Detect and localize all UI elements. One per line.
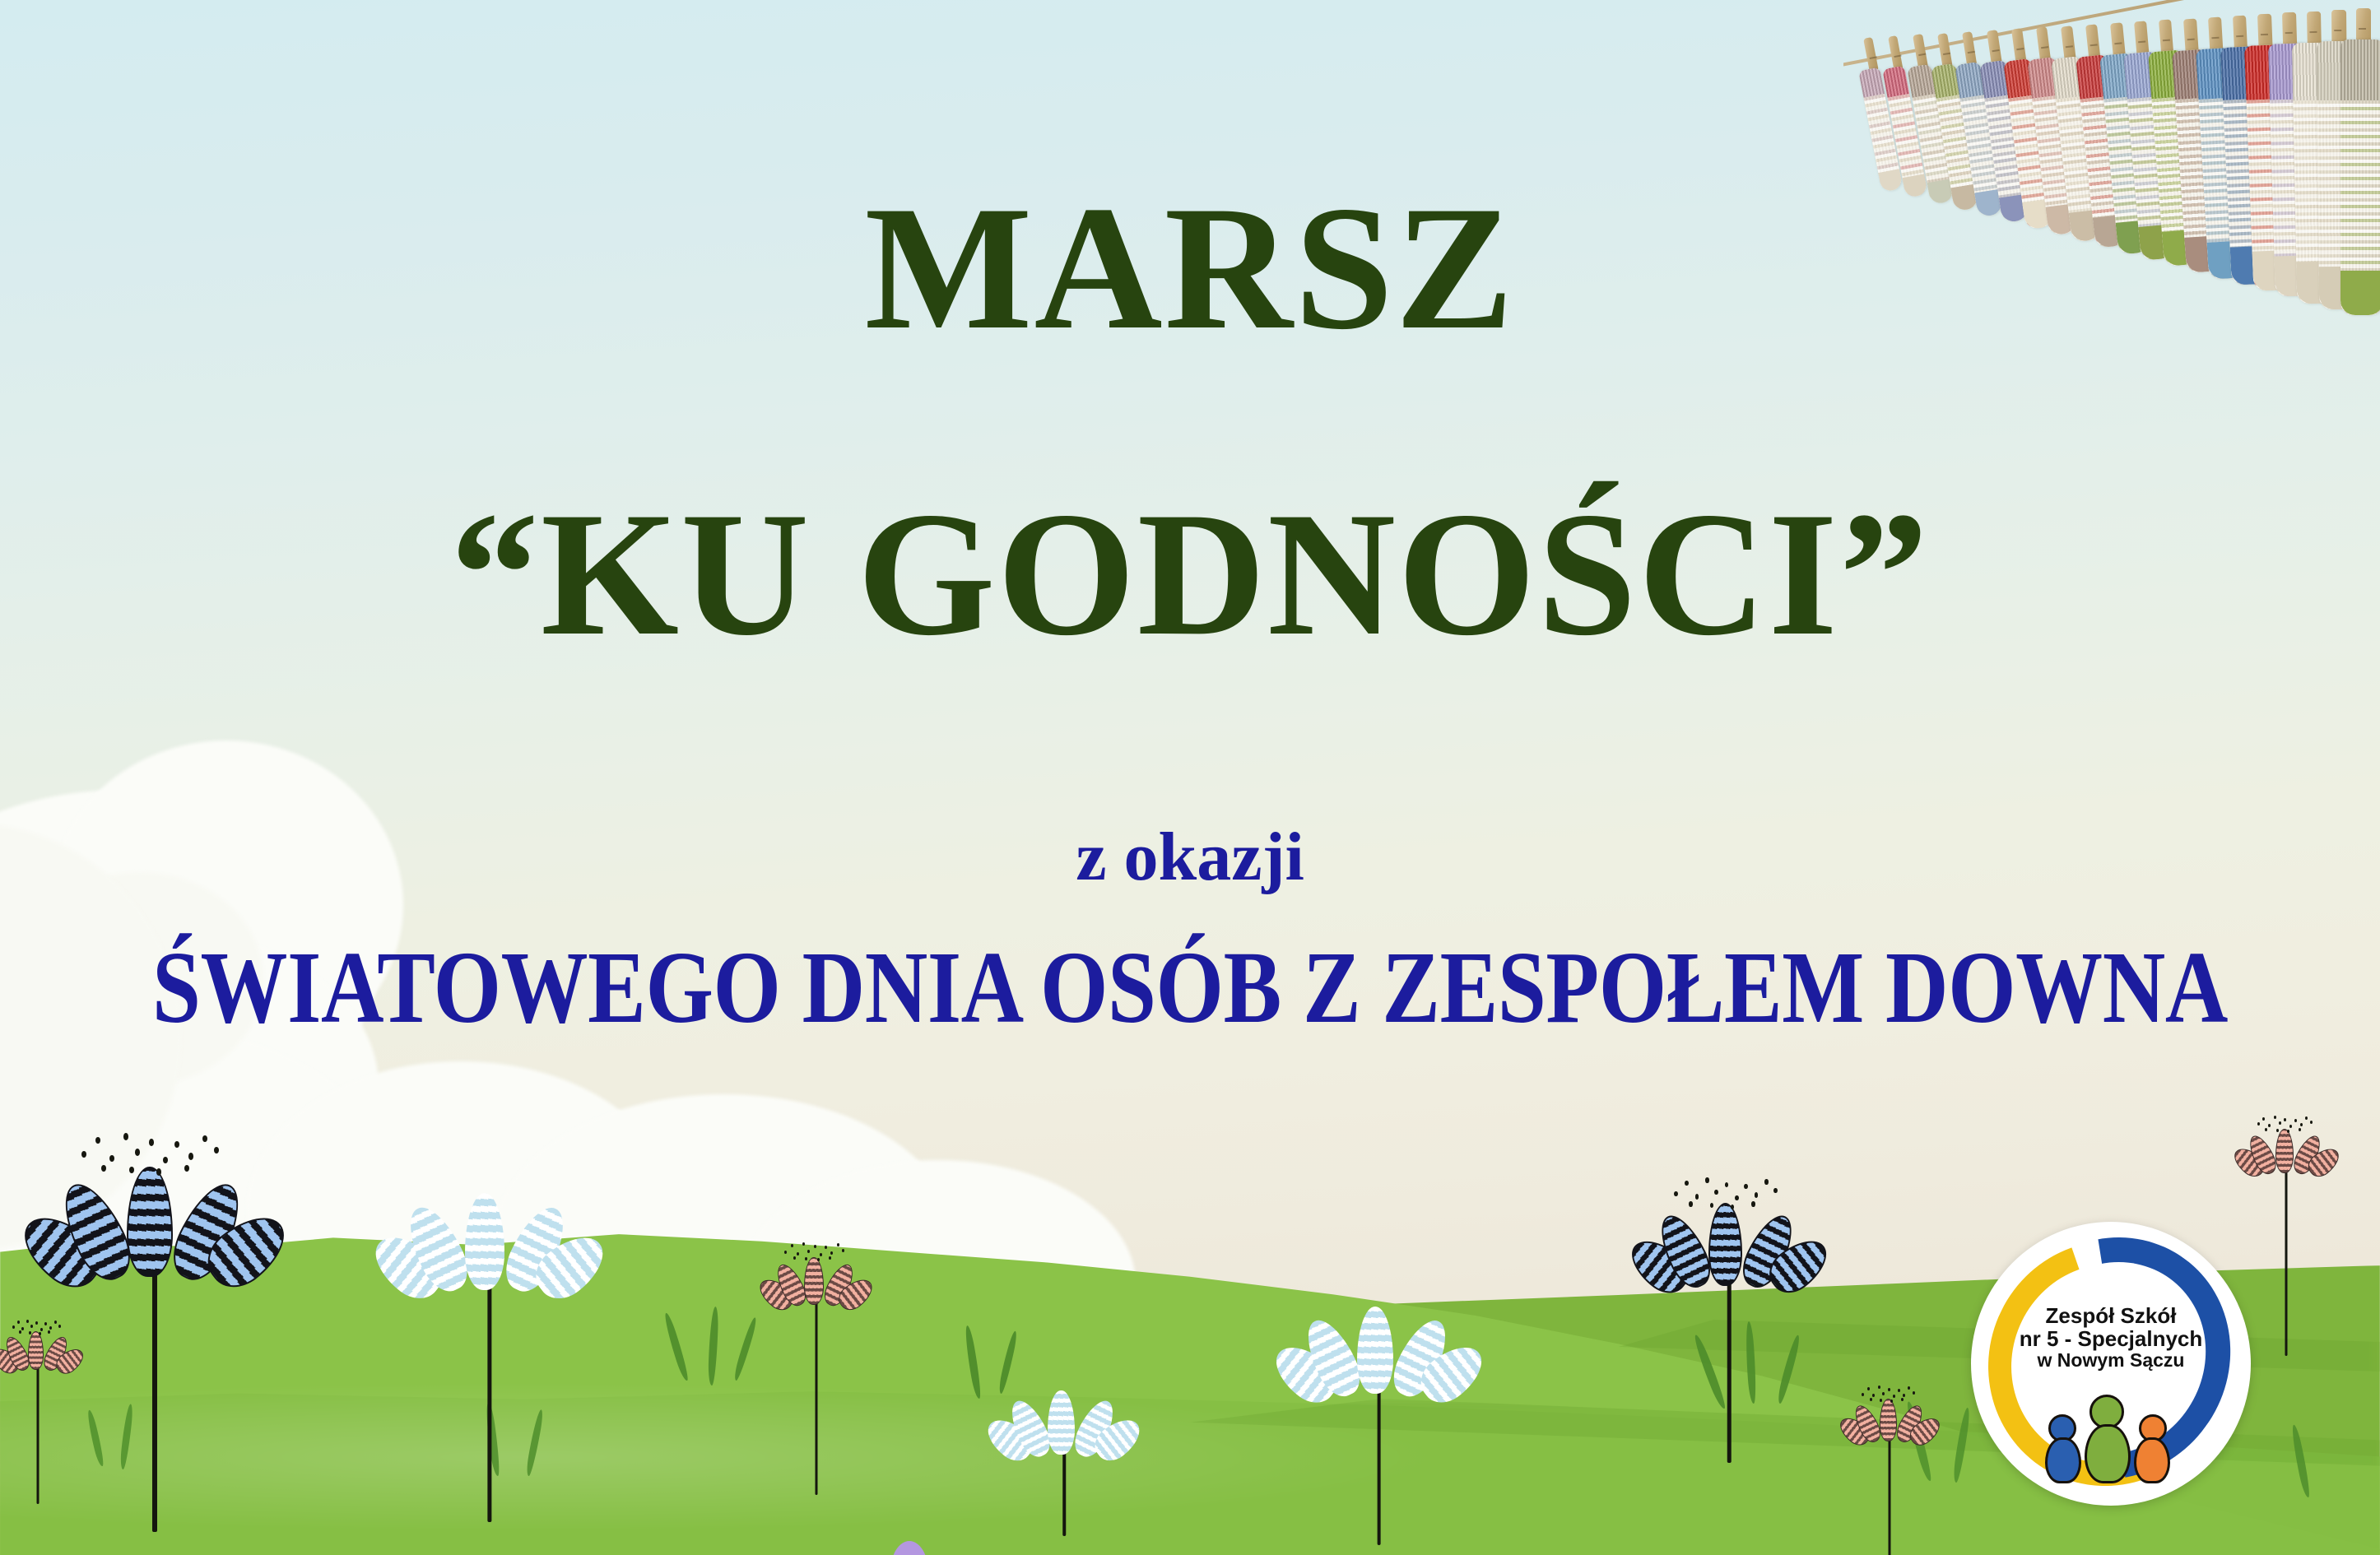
pollen-dot — [49, 1326, 52, 1330]
flower-stem — [1062, 1446, 1066, 1536]
purple-blossom — [856, 1534, 963, 1555]
flower-petal — [1357, 1307, 1393, 1394]
pollen-dot — [26, 1320, 29, 1323]
pollen-dot — [820, 1253, 822, 1256]
pollen-dot — [1878, 1386, 1880, 1389]
sock-cuff — [2340, 39, 2380, 100]
flower-petal — [2275, 1129, 2294, 1173]
pollen-dot — [1882, 1392, 1885, 1395]
poster-canvas: MARSZ “KU GODNOŚCI” z okazji ŚWIATOWEGO … — [0, 0, 2380, 1555]
flower-pollen-dots — [76, 1133, 224, 1178]
pollen-dot — [2287, 1130, 2289, 1133]
pollen-dot — [807, 1250, 810, 1253]
pollen-dot — [109, 1155, 114, 1162]
pollen-dot — [793, 1256, 796, 1260]
pollen-dot — [21, 1327, 24, 1330]
flower-stem — [36, 1364, 39, 1504]
doodle-flower — [66, 1167, 244, 1555]
figure-body-right — [2134, 1437, 2170, 1483]
figure-body-left — [2045, 1437, 2081, 1483]
pollen-dot — [1755, 1192, 1759, 1197]
doodle-flower — [1662, 1203, 1796, 1481]
pollen-dot — [135, 1149, 140, 1155]
sock-cuff — [1858, 67, 1885, 98]
pollen-dot — [1880, 1399, 1882, 1402]
doodle-flower — [1012, 1390, 1116, 1550]
doodle-flower — [411, 1193, 567, 1543]
subtitle-line2: ŚWIATOWEGO DNIA OSÓB Z ZESPOŁEM DOWNA — [0, 936, 2380, 1039]
pollen-dot — [101, 1165, 106, 1172]
flower-petal — [1708, 1203, 1742, 1286]
pollen-dot — [1705, 1177, 1709, 1182]
flower-stem — [2285, 1167, 2288, 1356]
pollen-dot — [1862, 1393, 1864, 1396]
pollen-dot — [829, 1256, 831, 1260]
pollen-dot — [1744, 1184, 1748, 1189]
pollen-dot — [19, 1330, 21, 1334]
pollen-dot — [1867, 1387, 1870, 1390]
pollen-dot — [784, 1251, 787, 1254]
flower-stem — [1889, 1435, 1891, 1555]
pollen-dot — [817, 1258, 820, 1261]
pollen-dot — [156, 1168, 161, 1175]
sock-cuff — [1883, 66, 1910, 98]
pollen-dot — [2262, 1117, 2265, 1121]
flower-stem — [152, 1260, 157, 1532]
pollen-dot — [1888, 1388, 1890, 1391]
pollen-dot — [2284, 1118, 2286, 1121]
school-logo: Zespół Szkół nr 5 - Specjalnych w Nowym … — [1971, 1222, 2251, 1506]
pollen-dot — [2279, 1121, 2281, 1125]
doodle-flower — [2251, 1129, 2322, 1366]
pollen-dot — [1695, 1194, 1699, 1199]
doodle-flower — [7, 1331, 69, 1512]
logo-text-line3: w Nowym Sączu — [1971, 1350, 2251, 1371]
subtitle-line1: z okazji — [0, 823, 2380, 892]
pollen-dot — [58, 1325, 61, 1328]
pollen-dot — [2276, 1129, 2279, 1132]
pollen-dot — [54, 1321, 57, 1324]
pollen-dot — [1731, 1205, 1735, 1209]
flower-pollen-dots — [1670, 1177, 1781, 1211]
flower-pollen-dots — [10, 1320, 62, 1335]
pollen-dot — [188, 1153, 193, 1159]
logo-text-line1: Zespół Szkół — [1971, 1304, 2251, 1327]
pollen-dot — [17, 1321, 20, 1324]
pollen-dot — [149, 1139, 154, 1145]
pollen-dot — [1870, 1398, 1872, 1401]
pollen-dot — [825, 1246, 827, 1249]
pollen-dot — [2310, 1121, 2313, 1124]
flower-petal — [465, 1193, 504, 1290]
pollen-dot — [2300, 1123, 2303, 1126]
pollen-dot — [1893, 1395, 1895, 1398]
pollen-dot — [1898, 1389, 1900, 1392]
pollen-dot — [830, 1251, 833, 1255]
flower-petal — [28, 1331, 44, 1370]
pollen-dot — [1689, 1201, 1693, 1206]
logo-family-figures — [2043, 1396, 2183, 1483]
pollen-dot — [2265, 1128, 2267, 1131]
pollen-dot — [1735, 1195, 1739, 1200]
flower-petal — [1880, 1399, 1897, 1441]
pollen-dot — [791, 1244, 793, 1247]
pollen-dot — [1674, 1191, 1678, 1196]
pollen-dot — [12, 1325, 15, 1329]
flower-pollen-dots — [2255, 1116, 2314, 1134]
pollen-dot — [44, 1322, 47, 1325]
figure-body-center — [2085, 1424, 2131, 1483]
pollen-dot — [174, 1141, 179, 1148]
pollen-dot — [48, 1330, 50, 1334]
pollen-dot — [1890, 1399, 1893, 1403]
pollen-dot — [40, 1328, 43, 1331]
pollen-dot — [2268, 1124, 2271, 1127]
pollen-dot — [2289, 1125, 2292, 1128]
pollen-dot — [39, 1332, 41, 1335]
flower-pollen-dots — [782, 1242, 846, 1262]
pollen-dot — [2274, 1116, 2276, 1119]
pollen-dot — [1751, 1201, 1755, 1206]
pollen-dot — [1908, 1386, 1910, 1390]
flower-pollen-dots — [1860, 1386, 1917, 1403]
pollen-dot — [184, 1165, 189, 1172]
pollen-dot — [123, 1133, 128, 1140]
pollen-dot — [214, 1147, 219, 1153]
pollen-dot — [202, 1135, 207, 1142]
pollen-dot — [1764, 1179, 1769, 1184]
pollen-dot — [802, 1242, 805, 1246]
doodle-flower — [1856, 1399, 1924, 1555]
flower-stem — [815, 1297, 817, 1495]
flower-stem — [1377, 1381, 1381, 1545]
pollen-dot — [814, 1245, 816, 1248]
pollen-dot — [1901, 1398, 1904, 1401]
blossom-petal — [890, 1541, 928, 1555]
pollen-dot — [1913, 1391, 1915, 1395]
pollen-dot — [163, 1157, 168, 1163]
flower-stem — [1727, 1274, 1732, 1463]
pollen-dot — [29, 1331, 31, 1335]
clothespin — [1863, 37, 1878, 71]
pollen-dot — [1714, 1190, 1718, 1195]
pollen-dot — [842, 1249, 844, 1252]
flower-stem — [487, 1275, 491, 1522]
pollen-dot — [30, 1325, 33, 1328]
pollen-dot — [35, 1321, 38, 1325]
page-title-line2: “KU GODNOŚCI” — [0, 485, 2380, 663]
pollen-dot — [1710, 1203, 1714, 1208]
wool-sock — [2340, 39, 2380, 315]
pollen-dot — [95, 1137, 100, 1144]
pollen-dot — [2305, 1116, 2308, 1120]
pollen-dot — [837, 1243, 839, 1246]
flower-petal — [1048, 1390, 1074, 1455]
flower-petal — [127, 1167, 172, 1277]
pollen-dot — [129, 1167, 134, 1173]
pollen-dot — [1685, 1181, 1689, 1186]
pollen-dot — [1725, 1182, 1729, 1187]
pollen-dot — [2294, 1119, 2297, 1122]
pollen-dot — [1773, 1188, 1778, 1193]
logo-text: Zespół Szkół nr 5 - Specjalnych w Nowym … — [1971, 1304, 2251, 1371]
logo-text-line2: nr 5 - Specjalnych — [1971, 1327, 2251, 1350]
doodle-flower — [778, 1257, 855, 1506]
pollen-dot — [805, 1257, 807, 1260]
pollen-dot — [797, 1252, 799, 1256]
doodle-flower — [1309, 1307, 1449, 1555]
pollen-dot — [1903, 1394, 1905, 1397]
flower-petal — [804, 1257, 824, 1305]
sock-cuff — [1907, 64, 1936, 98]
pollen-dot — [2257, 1122, 2260, 1126]
sock-toe — [2340, 271, 2380, 315]
pollen-dot — [81, 1151, 86, 1158]
pollen-dot — [2299, 1128, 2301, 1131]
pollen-dot — [1872, 1394, 1875, 1397]
